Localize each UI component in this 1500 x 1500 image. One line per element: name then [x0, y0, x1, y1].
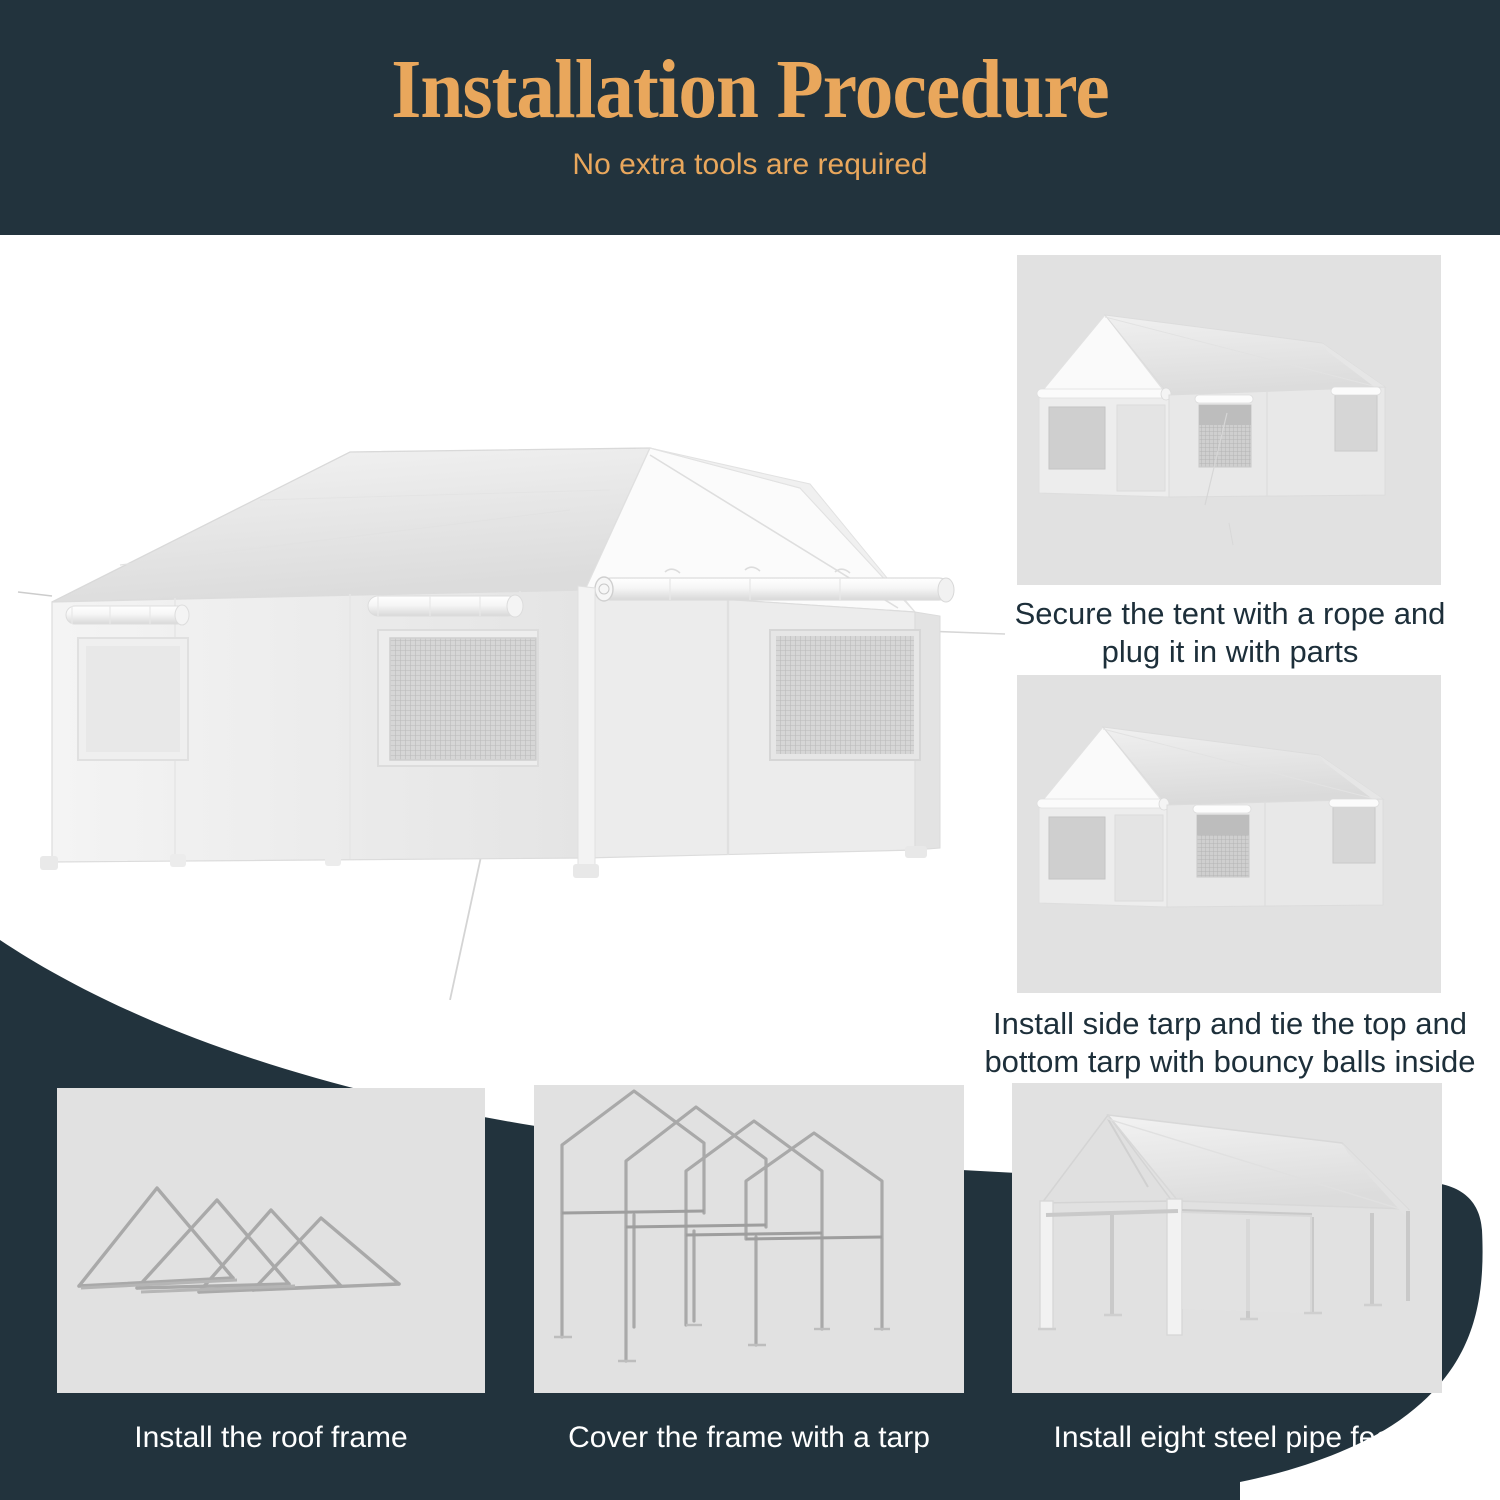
step-3-illustration — [1012, 1083, 1442, 1393]
step-caption-4: Install side tarp and tie the top and bo… — [960, 1005, 1500, 1081]
step-5-illustration — [1017, 255, 1441, 585]
infographic-page: Installation Procedure No extra tools ar… — [0, 0, 1500, 1500]
step-caption-5: Secure the tent with a rope and plug it … — [1000, 595, 1460, 671]
step-panel-4: 4 — [1017, 675, 1441, 993]
page-title: Installation Procedure — [60, 42, 1440, 138]
step-panel-3: 3 — [1012, 1083, 1442, 1393]
step-panel-1: 1 — [57, 1088, 485, 1393]
page-subtitle: No extra tools are required — [0, 145, 1500, 185]
step-1-illustration — [57, 1088, 485, 1393]
step-2-illustration — [534, 1085, 964, 1393]
step-panel-2: 2 — [534, 1085, 964, 1393]
step-caption-2: Cover the frame with a tarp — [534, 1420, 964, 1456]
header-banner: Installation Procedure No extra tools ar… — [0, 0, 1500, 235]
step-caption-3: Install eight steel pipe feet — [1012, 1420, 1442, 1456]
step-caption-1: Install the roof frame — [57, 1420, 485, 1456]
hero-tent-illustration — [10, 380, 1010, 1000]
step-panel-5: 5 — [1017, 255, 1441, 585]
step-4-illustration — [1017, 675, 1441, 993]
